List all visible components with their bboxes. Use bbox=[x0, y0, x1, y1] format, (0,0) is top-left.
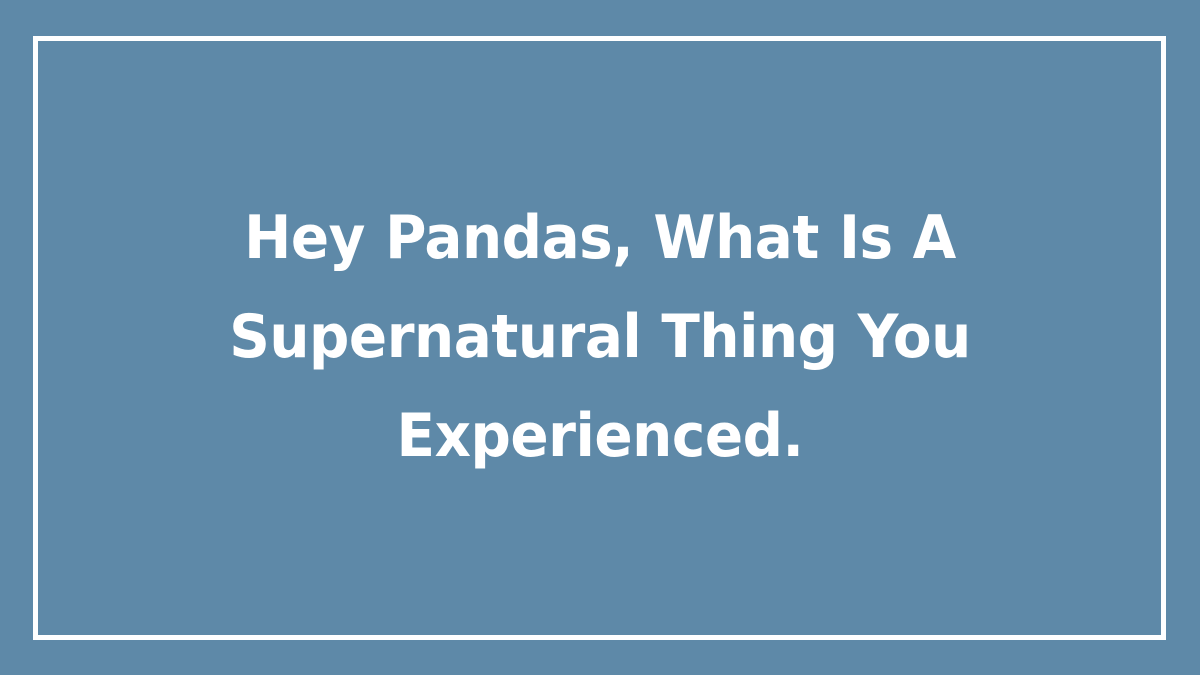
title-container: Hey Pandas, What Is A Supernatural Thing… bbox=[0, 0, 1200, 675]
page-title: Hey Pandas, What Is A Supernatural Thing… bbox=[224, 189, 976, 486]
poster-canvas: Hey Pandas, What Is A Supernatural Thing… bbox=[0, 0, 1200, 675]
